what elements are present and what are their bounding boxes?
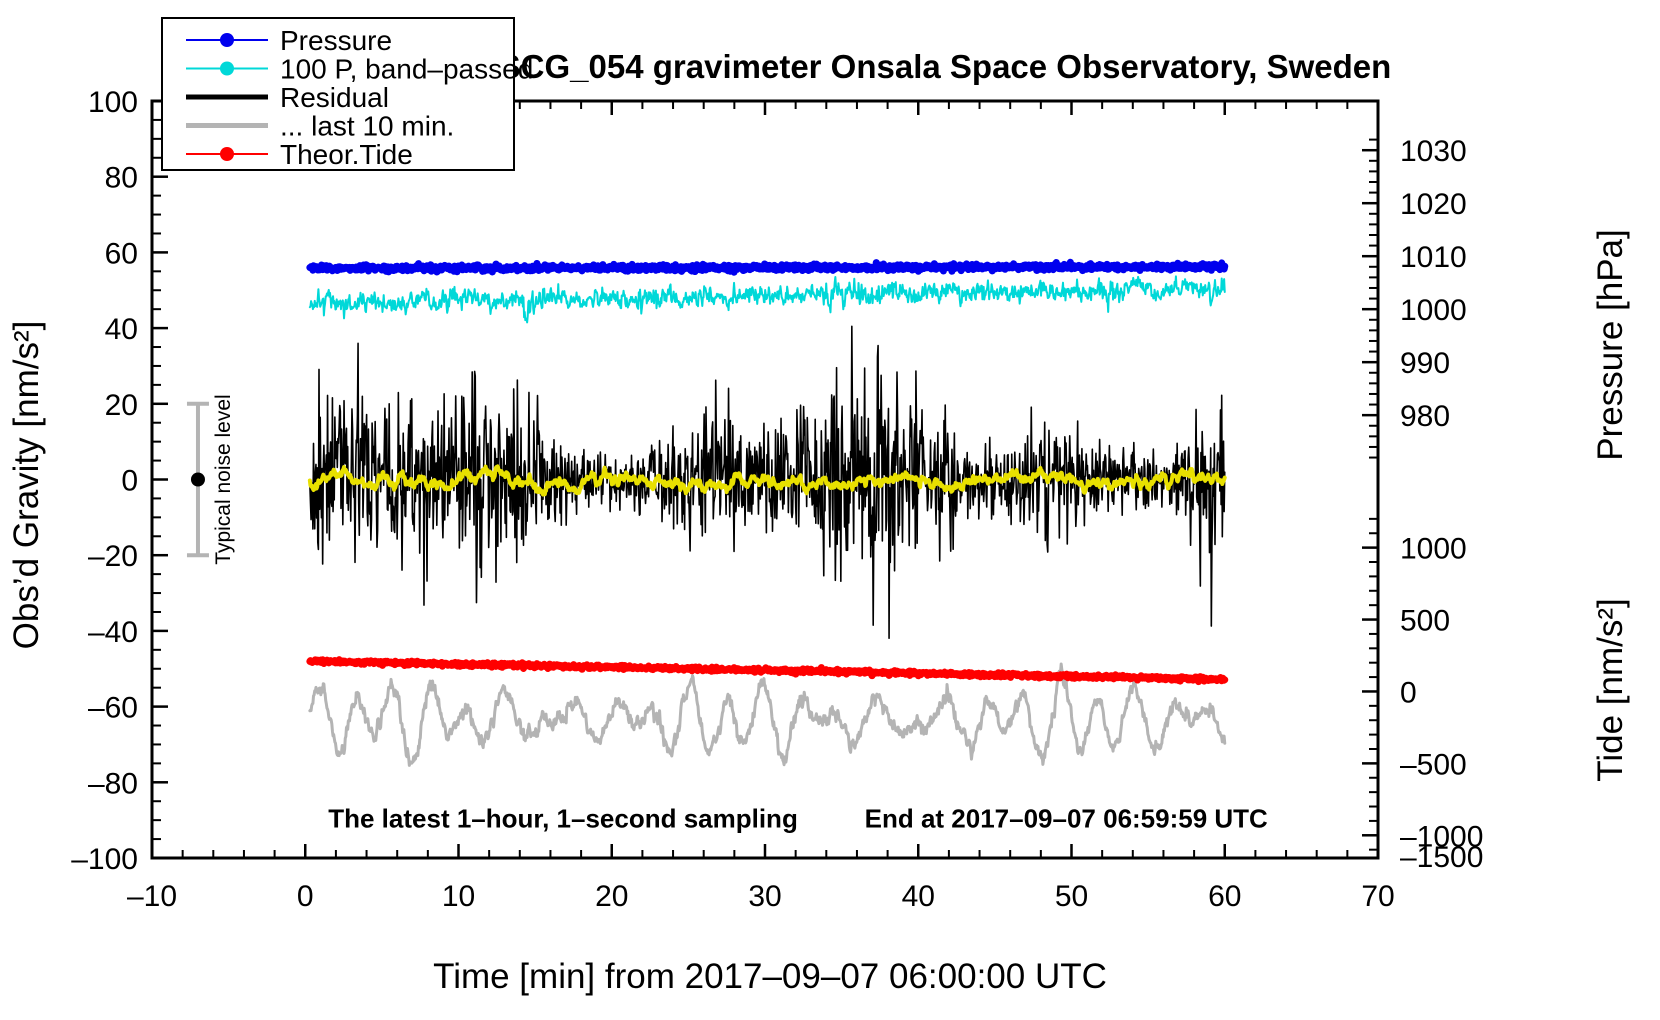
y-axis-title: Obs’d Gravity [nm/s²] xyxy=(7,321,46,650)
right-pressure-axis-title: Pressure [hPa] xyxy=(1591,229,1630,461)
right-tide-tick-label: –500 xyxy=(1400,748,1467,781)
legend-label: Theor.Tide xyxy=(280,139,413,170)
x-tick-label: 10 xyxy=(442,880,475,913)
chart-annotations: The latest 1–hour, 1–second samplingEnd … xyxy=(328,804,1268,834)
trace-100-p-band-passed xyxy=(310,276,1225,322)
y-tick-label: 80 xyxy=(105,162,138,195)
right-tide-tick-label: –1500 xyxy=(1400,841,1483,874)
legend-label: Residual xyxy=(280,82,389,113)
legend-marker-dot xyxy=(220,62,234,76)
y-tick-label: –100 xyxy=(71,843,138,876)
x-tick-label: 60 xyxy=(1208,880,1241,913)
y-tick-label: –60 xyxy=(88,692,138,725)
x-tick-label: 40 xyxy=(902,880,935,913)
y-tick-label: 40 xyxy=(105,313,138,346)
right-pressure-tick-label: 990 xyxy=(1400,347,1450,380)
x-axis-title: Time [min] from 2017–09–07 06:00:00 UTC xyxy=(433,957,1107,996)
y-tick-label: 20 xyxy=(105,389,138,422)
x-tick-label: 30 xyxy=(748,880,781,913)
typical-noise-level-marker: Typical noise level xyxy=(187,394,235,564)
legend-label: ... last 10 min. xyxy=(280,111,454,142)
y-tick-label: 60 xyxy=(105,237,138,270)
right-pressure-tick-label: 980 xyxy=(1400,400,1450,433)
sampling-note: The latest 1–hour, 1–second sampling xyxy=(328,804,798,834)
legend-marker-dot xyxy=(220,147,234,161)
y-tick-label: –80 xyxy=(88,767,138,800)
y-tick-label: 0 xyxy=(121,465,138,498)
y-tick-label: –20 xyxy=(88,540,138,573)
chart-canvas: SCG_054 gravimeter Onsala Space Observat… xyxy=(0,0,1660,1020)
trace-theor-tide xyxy=(310,660,1225,682)
x-tick-label: 0 xyxy=(297,880,314,913)
right-tide-tick-label: 500 xyxy=(1400,605,1450,638)
y-tick-label: –40 xyxy=(88,616,138,649)
legend-label: 100 P, band–passed xyxy=(280,54,533,85)
right-pressure-tick-label: 1030 xyxy=(1400,135,1467,168)
page-title: SCG_054 gravimeter Onsala Space Observat… xyxy=(499,48,1392,85)
right-tide-tick-label: 0 xyxy=(1400,676,1417,709)
legend-marker-dot xyxy=(220,33,234,47)
right-tide-axis-title: Tide [nm/s²] xyxy=(1591,598,1630,781)
legend-label: Pressure xyxy=(280,25,392,56)
gravimeter-chart-figure: SCG_054 gravimeter Onsala Space Observat… xyxy=(0,0,1660,1020)
right-pressure-tick-label: 1000 xyxy=(1400,294,1467,327)
end-time-note: End at 2017–09–07 06:59:59 UTC xyxy=(865,804,1268,834)
right-pressure-tick-label: 1020 xyxy=(1400,188,1467,221)
right-pressure-tick-label: 1010 xyxy=(1400,241,1467,274)
data-traces xyxy=(310,262,1225,765)
y-tick-label: 100 xyxy=(88,86,138,119)
right-tide-tick-label: 1000 xyxy=(1400,533,1467,566)
x-tick-label: 20 xyxy=(595,880,628,913)
trace-pressure xyxy=(310,262,1225,272)
x-tick-label: 70 xyxy=(1361,880,1394,913)
noise-center-dot xyxy=(191,473,205,487)
x-tick-label: 50 xyxy=(1055,880,1088,913)
chart-legend: Pressure100 P, band–passedResidual... la… xyxy=(162,18,533,170)
noise-level-label: Typical noise level xyxy=(212,394,235,564)
x-tick-label: –10 xyxy=(127,880,177,913)
